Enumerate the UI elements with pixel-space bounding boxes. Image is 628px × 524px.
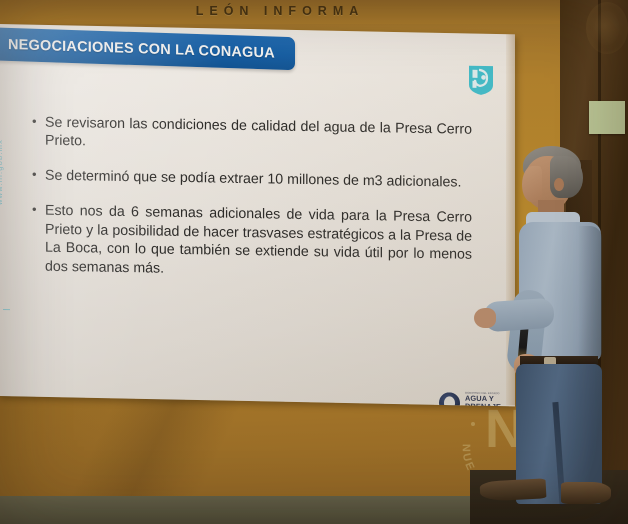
bullet-marker: •: [32, 202, 45, 276]
presenter-right-shoe: [561, 482, 611, 504]
conagua-shield-icon: [468, 65, 494, 96]
list-item: • Se determinó que se podía extraer 10 m…: [32, 166, 472, 192]
photo-scene: LEÓN INFORMA N NUE EÓN NEGOCIACIONES CON…: [0, 0, 628, 524]
presenter-hair-back: [550, 156, 583, 198]
presenter-face: [522, 166, 542, 202]
bullet-text: Esto nos da 6 semanas adicionales de vid…: [45, 202, 472, 283]
agua-y-drenaje-seal-icon: [438, 391, 461, 407]
bullet-marker: •: [32, 113, 45, 150]
list-item: • Se revisaron las condiciones de calida…: [32, 113, 472, 157]
side-url-tick: [3, 309, 10, 310]
presenter-torso-shading: [578, 226, 602, 358]
side-url-text: www.nl.gob.mx: [0, 139, 4, 205]
bullet-text: Se revisaron las condiciones de calidad …: [45, 114, 472, 158]
bullet-marker: •: [32, 166, 45, 185]
watermark-dot: [471, 422, 475, 426]
bullet-text: Se determinó que se podía extraer 10 mil…: [45, 167, 472, 193]
slide-title-bar: NEGOCIACIONES CON LA CONAGUA: [0, 27, 295, 70]
wall-emblem-icon: [586, 2, 628, 54]
slide-title: NEGOCIACIONES CON LA CONAGUA: [0, 36, 275, 61]
list-item: • Esto nos da 6 semanas adicionales de v…: [32, 202, 472, 283]
presenter-left-shoe: [480, 478, 547, 501]
presenter-left-hand: [474, 308, 496, 328]
presenter-ear: [554, 178, 564, 191]
slide-bullet-list: • Se revisaron las condiciones de calida…: [32, 113, 472, 297]
green-placard: [589, 101, 625, 134]
venue-header-text: LEÓN INFORMA: [0, 0, 560, 22]
presenter-figure: [486, 140, 626, 524]
projection-slide: NEGOCIACIONES CON LA CONAGUA • Se revisa…: [0, 24, 515, 406]
